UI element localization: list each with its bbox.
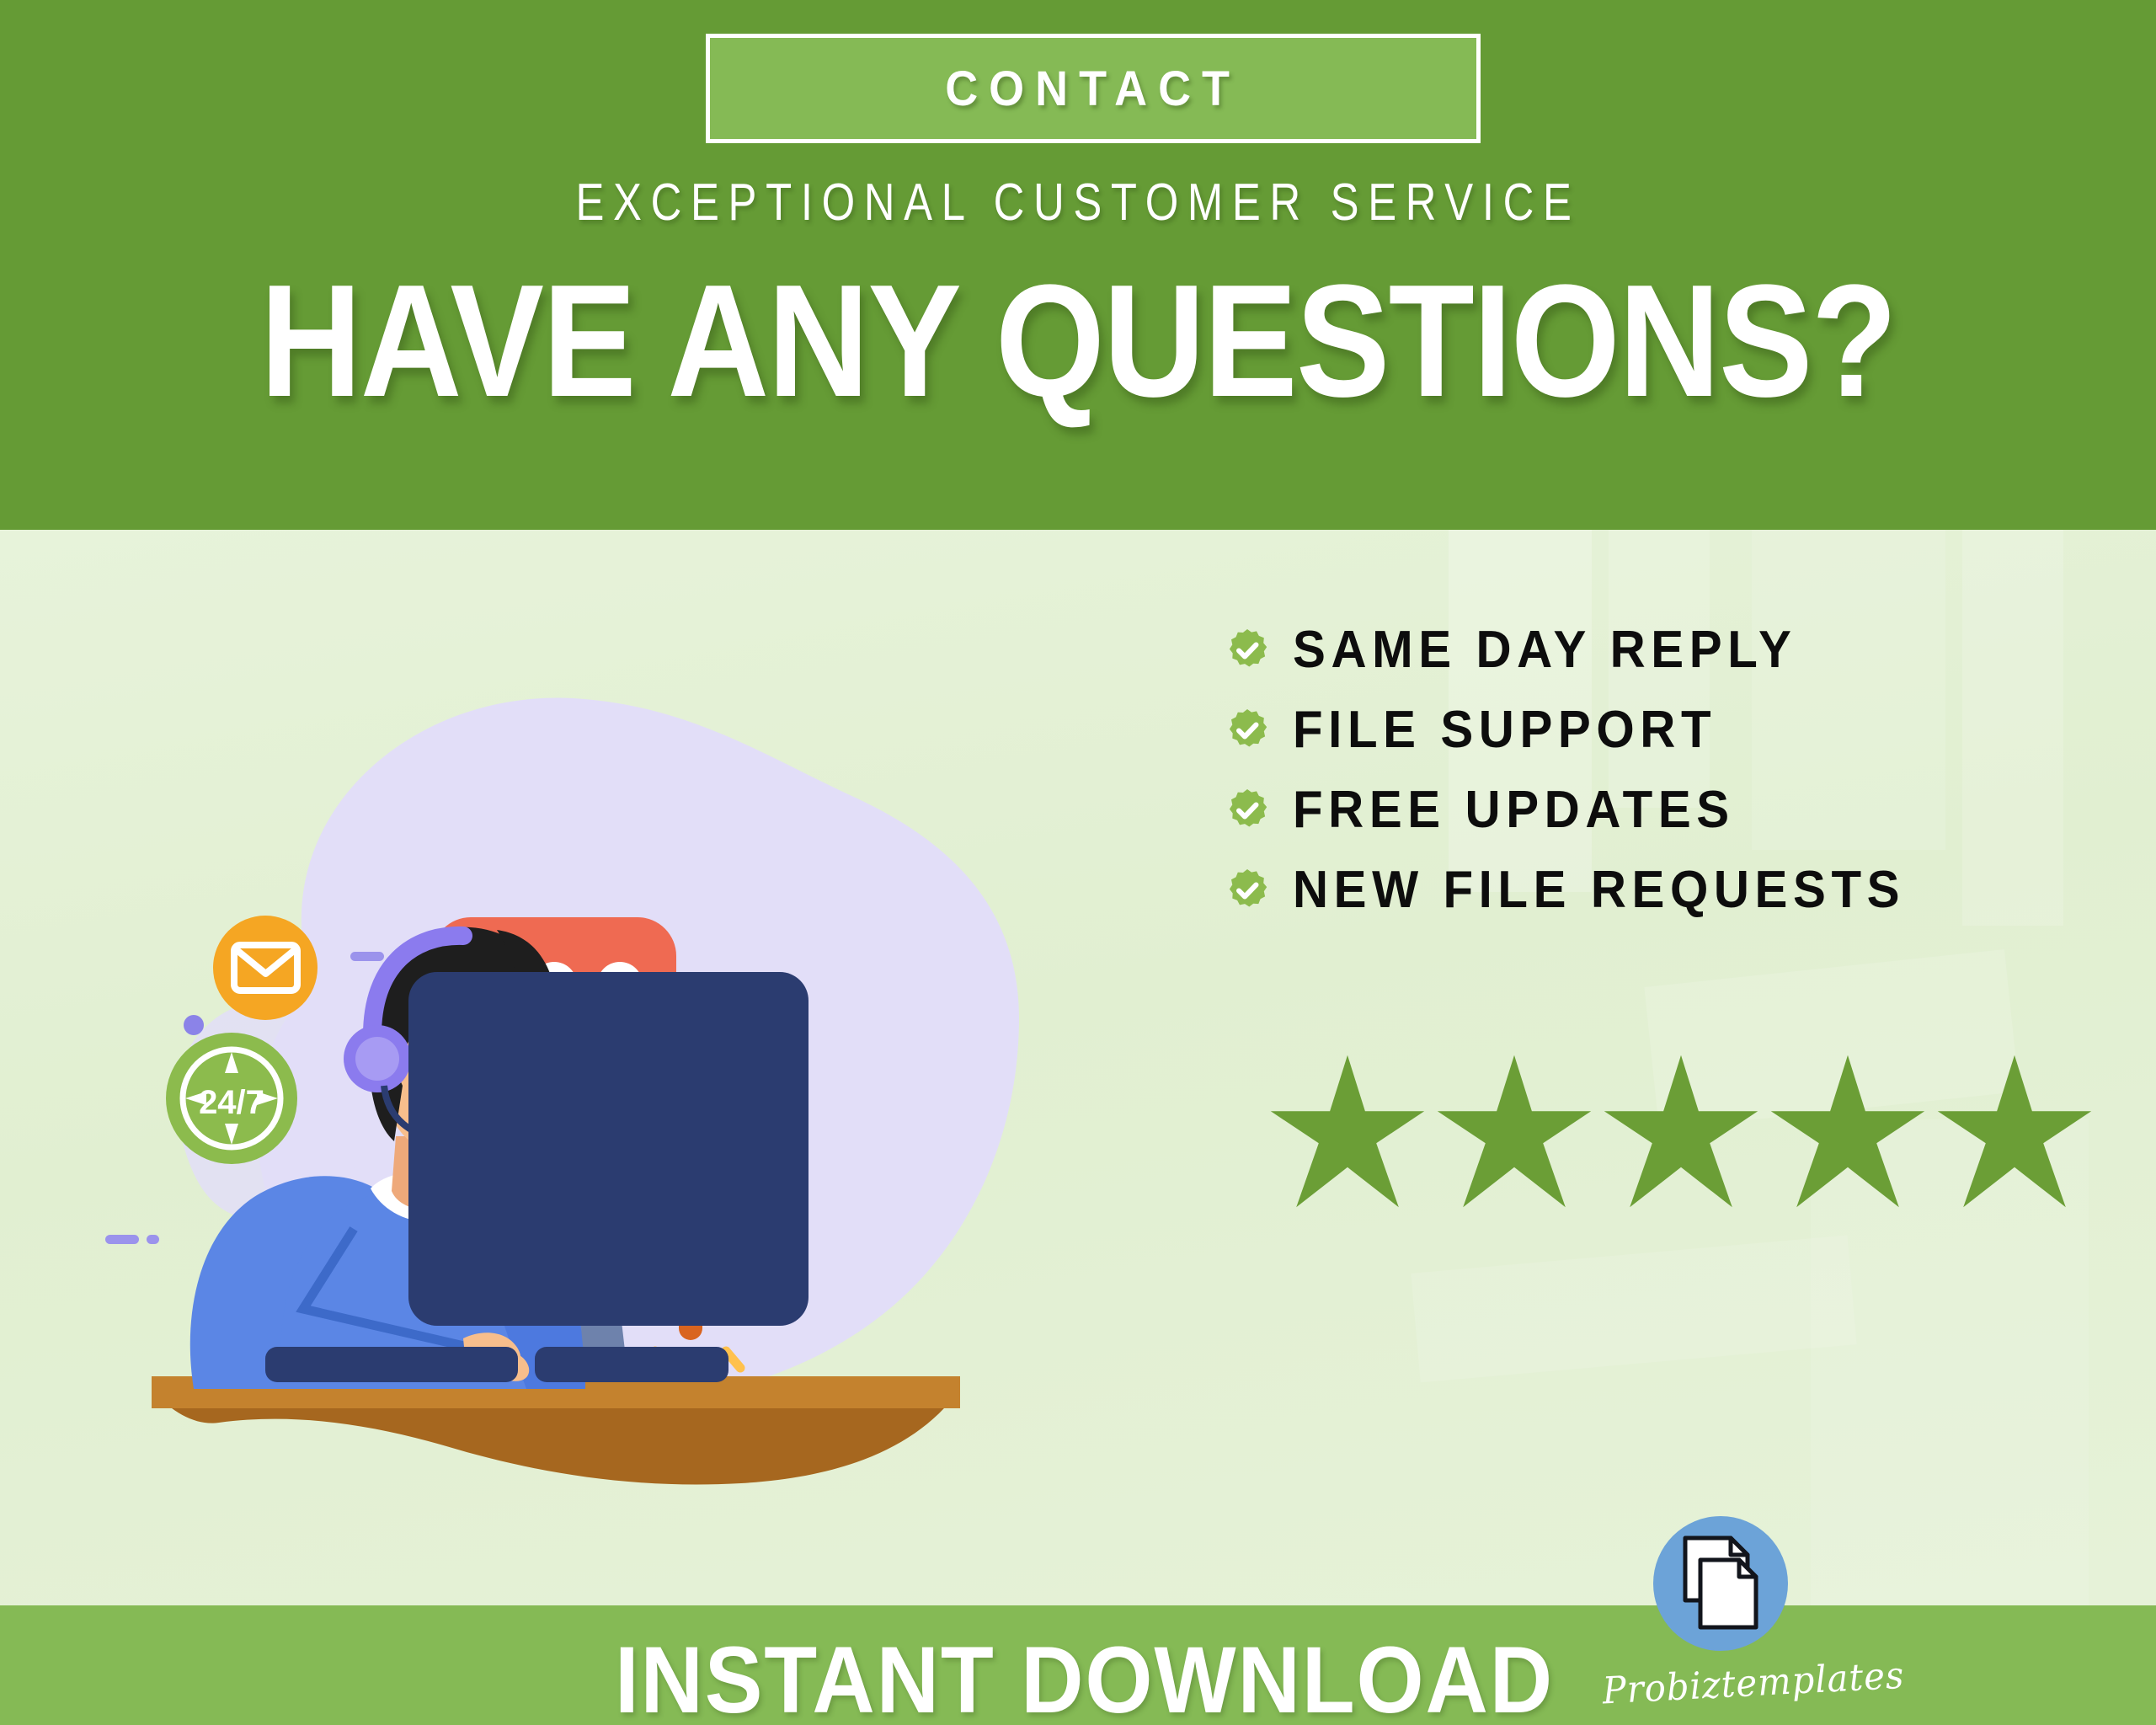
feature-list: SAME DAY REPLY FILE SUPPORT xyxy=(1225,610,1944,930)
contact-badge-label: CONTACT xyxy=(946,61,1241,117)
badge-247-icon: 24/7 xyxy=(166,1033,297,1164)
badge-247-label: 24/7 xyxy=(199,1084,264,1121)
instant-download-label: INSTANT DOWNLOAD xyxy=(615,1626,1554,1725)
page-title: HAVE ANY QUESTIONS? xyxy=(130,261,2027,421)
check-badge-icon xyxy=(1225,628,1269,672)
list-item: SAME DAY REPLY xyxy=(1225,610,1944,690)
header-subtitle: EXCEPTIONAL CUSTOMER SERVICE xyxy=(194,173,1961,232)
star-icon xyxy=(1267,1052,1428,1212)
envelope-icon xyxy=(213,916,318,1020)
desk-icon xyxy=(152,1376,960,1485)
star-icon xyxy=(1601,1052,1761,1212)
list-item-label: FREE UPDATES xyxy=(1293,780,1735,840)
star-rating xyxy=(1267,1052,2095,1212)
monitor-icon xyxy=(408,972,808,1372)
list-item: FREE UPDATES xyxy=(1225,770,1944,850)
list-item: NEW FILE REQUESTS xyxy=(1225,850,1944,930)
purple-dot-icon xyxy=(184,1015,204,1035)
body-area: 24/7 xyxy=(0,530,2156,1605)
brand-logo xyxy=(1630,1516,1811,1651)
star-icon xyxy=(1434,1052,1594,1212)
list-item-label: SAME DAY REPLY xyxy=(1293,620,1796,680)
list-item: FILE SUPPORT xyxy=(1225,690,1944,770)
check-badge-icon xyxy=(1225,708,1269,752)
keyboard-icon xyxy=(265,1347,728,1382)
poster-canvas: CONTACT EXCEPTIONAL CUSTOMER SERVICE HAV… xyxy=(0,0,2156,1725)
check-badge-icon xyxy=(1225,868,1269,912)
list-item-label: NEW FILE REQUESTS xyxy=(1293,860,1905,920)
documents-icon xyxy=(1678,1535,1763,1632)
background-texture-shape xyxy=(1411,1236,1856,1383)
background-texture-shape xyxy=(1962,530,2063,926)
purple-dash-icon xyxy=(350,952,384,961)
purple-dash-icon xyxy=(147,1235,159,1244)
purple-dash-icon xyxy=(105,1235,139,1244)
star-icon xyxy=(1935,1052,2095,1212)
header-band: CONTACT EXCEPTIONAL CUSTOMER SERVICE HAV… xyxy=(0,0,2156,530)
check-badge-icon xyxy=(1225,788,1269,832)
star-icon xyxy=(1768,1052,1928,1212)
logo-circle xyxy=(1653,1516,1788,1651)
list-item-label: FILE SUPPORT xyxy=(1293,700,1716,760)
customer-support-illustration: 24/7 xyxy=(101,547,1179,1557)
contact-badge: CONTACT xyxy=(706,34,1481,143)
